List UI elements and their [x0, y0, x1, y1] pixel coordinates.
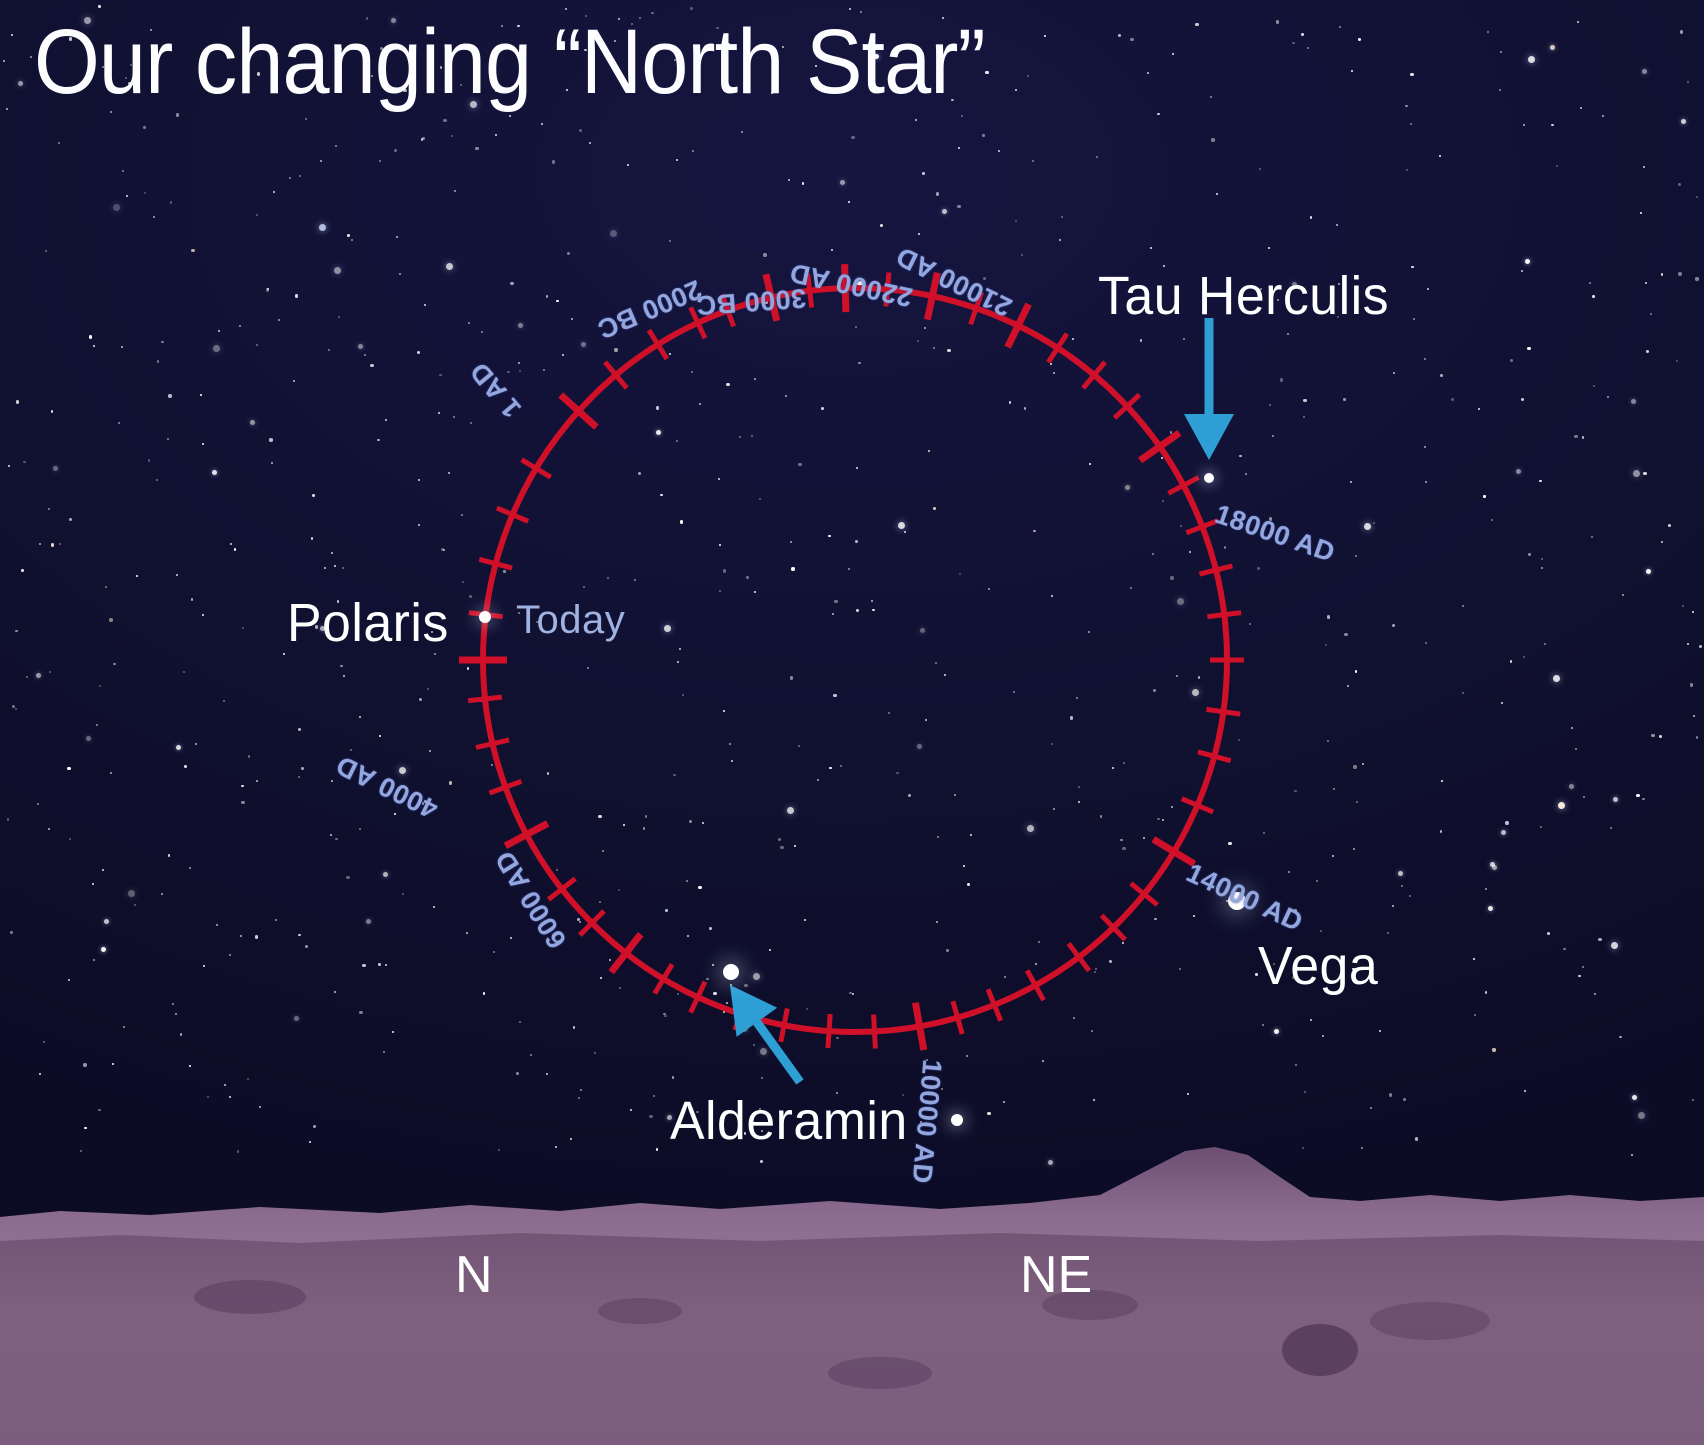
background-star — [331, 780, 333, 782]
era-tick-major — [845, 264, 846, 312]
background-star — [815, 65, 817, 67]
background-star — [1170, 576, 1173, 579]
background-star — [669, 353, 671, 355]
background-star — [656, 1148, 658, 1150]
background-star — [1352, 968, 1354, 970]
background-star — [667, 1115, 672, 1120]
background-star — [102, 869, 104, 871]
background-star — [562, 354, 564, 356]
era-tick-minor — [1027, 971, 1044, 1001]
background-star — [1143, 837, 1145, 839]
background-star — [573, 1026, 575, 1028]
background-star — [1490, 862, 1495, 867]
background-star — [852, 993, 854, 995]
background-star — [729, 743, 731, 745]
background-star — [1355, 670, 1357, 672]
background-star — [1303, 416, 1305, 418]
background-star — [99, 685, 101, 687]
background-star — [213, 345, 220, 352]
background-star — [89, 56, 92, 59]
background-star — [371, 75, 373, 77]
background-star — [578, 1097, 580, 1099]
background-star — [394, 813, 396, 815]
background-star — [744, 1013, 747, 1016]
background-star — [460, 84, 462, 86]
background-star — [118, 422, 120, 424]
background-star — [1273, 963, 1275, 965]
background-star — [1492, 865, 1497, 870]
background-star — [1154, 918, 1156, 920]
background-star — [936, 921, 938, 923]
background-star — [1153, 689, 1156, 692]
background-star — [1500, 51, 1502, 53]
background-star — [1393, 372, 1395, 374]
background-star — [1353, 765, 1356, 768]
era-tick-minor — [808, 274, 812, 308]
background-star — [1287, 333, 1289, 335]
background-star — [172, 1003, 174, 1005]
background-star — [1638, 1112, 1645, 1119]
background-star — [908, 794, 911, 797]
background-star — [1093, 1099, 1095, 1101]
background-star — [475, 147, 478, 150]
background-star — [1320, 930, 1322, 932]
background-star — [853, 78, 856, 81]
background-star — [937, 836, 939, 838]
era-4000-ad: 4000 AD — [331, 749, 443, 825]
background-star — [417, 351, 420, 354]
background-star — [607, 577, 609, 579]
background-star — [1631, 399, 1636, 404]
background-star — [699, 403, 701, 405]
background-star — [320, 160, 322, 162]
background-star — [579, 129, 582, 132]
background-star — [1516, 469, 1521, 474]
background-star — [1589, 282, 1591, 284]
background-star — [1355, 555, 1357, 557]
background-star — [424, 304, 426, 306]
background-star — [1061, 216, 1063, 218]
background-star — [15, 708, 17, 710]
background-star — [941, 1088, 943, 1090]
background-star — [1344, 633, 1347, 636]
background-star — [663, 1013, 665, 1015]
background-star — [123, 1026, 125, 1028]
background-star — [856, 609, 859, 612]
background-star — [259, 1106, 261, 1108]
background-star — [817, 779, 819, 781]
background-star — [726, 383, 729, 386]
background-star — [370, 364, 373, 367]
background-star — [1607, 396, 1609, 398]
background-star — [112, 1063, 114, 1065]
background-star — [614, 348, 617, 351]
background-star — [1643, 166, 1645, 168]
background-star — [1183, 338, 1185, 340]
background-star — [438, 412, 440, 414]
background-star — [183, 671, 185, 673]
background-star — [840, 180, 845, 185]
background-star — [926, 1059, 928, 1061]
background-star — [157, 360, 159, 362]
background-star — [848, 568, 850, 570]
background-star — [1292, 42, 1294, 44]
background-star — [1091, 1030, 1093, 1032]
background-star — [719, 544, 721, 546]
background-star — [692, 150, 694, 152]
background-star — [26, 676, 28, 678]
background-star — [402, 893, 404, 895]
background-star — [1524, 1090, 1526, 1092]
background-star — [691, 371, 693, 373]
background-star — [1073, 1017, 1075, 1019]
background-star — [645, 815, 647, 817]
background-star — [614, 40, 616, 42]
background-star — [320, 626, 325, 631]
background-star — [829, 767, 831, 769]
background-star — [674, 59, 676, 61]
background-star — [698, 886, 701, 889]
background-star — [1379, 1030, 1381, 1032]
background-star — [643, 827, 645, 829]
background-star — [798, 463, 801, 466]
background-star — [1327, 740, 1329, 742]
background-star — [134, 904, 136, 906]
background-star — [924, 327, 926, 329]
arrow-head — [1184, 414, 1234, 460]
background-star — [1123, 762, 1125, 764]
background-star — [128, 82, 131, 85]
background-star — [1294, 790, 1296, 792]
background-star — [902, 1094, 904, 1096]
background-star — [849, 992, 851, 994]
background-star — [335, 145, 337, 147]
background-star — [723, 710, 725, 712]
background-star — [84, 17, 91, 24]
background-star — [821, 407, 824, 410]
background-star — [556, 869, 558, 871]
background-star — [161, 893, 163, 895]
background-star — [771, 92, 773, 94]
era-21000-ad: 21000 AD — [891, 240, 1017, 322]
background-star — [840, 765, 842, 767]
background-star — [834, 600, 837, 603]
background-star — [1553, 675, 1560, 682]
label-alderamin: Alderamin — [670, 1090, 908, 1152]
background-star — [267, 288, 269, 290]
background-star — [961, 115, 963, 117]
background-star — [53, 466, 58, 471]
era-tick-major — [915, 1003, 923, 1050]
background-star — [761, 1077, 763, 1079]
background-star — [726, 1002, 728, 1004]
background-star — [1462, 605, 1464, 607]
background-star — [1187, 1093, 1189, 1095]
background-star — [351, 239, 353, 241]
background-star — [831, 249, 833, 251]
background-star — [1193, 915, 1195, 917]
background-star — [857, 281, 864, 288]
background-star — [330, 834, 332, 836]
background-star — [1370, 1107, 1372, 1109]
background-star — [298, 728, 301, 731]
background-star — [1094, 971, 1096, 973]
background-star — [1358, 38, 1361, 41]
background-star — [922, 172, 925, 175]
background-star — [449, 781, 452, 784]
label-today: Today — [516, 598, 625, 643]
background-star — [334, 565, 336, 567]
background-star — [1003, 1101, 1005, 1103]
background-star — [1122, 942, 1124, 944]
era-tick-minor — [549, 879, 576, 900]
background-star — [1327, 615, 1330, 618]
background-star — [669, 240, 671, 242]
background-star — [702, 822, 704, 824]
era-tick-minor — [1186, 521, 1218, 533]
background-star — [623, 824, 625, 826]
precession-overlay — [0, 0, 1704, 1445]
background-star — [581, 342, 586, 347]
background-star — [170, 201, 172, 203]
background-star — [664, 1015, 666, 1017]
background-star — [1410, 123, 1412, 125]
background-star — [168, 394, 171, 397]
background-star — [237, 1150, 239, 1152]
background-star — [1009, 401, 1011, 403]
background-star — [1337, 316, 1339, 318]
background-star — [833, 694, 836, 697]
background-star — [571, 318, 573, 320]
background-star — [1547, 932, 1550, 935]
background-star — [176, 745, 181, 750]
background-star — [1292, 976, 1295, 979]
background-star — [753, 1044, 755, 1046]
background-star — [1699, 645, 1702, 648]
background-star — [189, 1065, 191, 1067]
background-star — [175, 1013, 177, 1015]
background-star — [1125, 485, 1130, 490]
background-star — [98, 5, 101, 8]
background-star — [391, 18, 396, 23]
background-star — [241, 785, 243, 787]
background-star — [1440, 374, 1443, 377]
background-star — [1088, 631, 1090, 633]
background-star — [1410, 73, 1413, 76]
background-star — [334, 991, 336, 993]
background-star — [935, 662, 937, 664]
background-star — [985, 71, 988, 74]
compass-n: N — [455, 1245, 493, 1305]
era-tick-minor — [522, 460, 551, 478]
background-star — [1474, 1014, 1476, 1016]
background-star — [951, 99, 953, 101]
named-star-dots — [479, 473, 1246, 1126]
background-star — [759, 498, 761, 500]
background-star — [1591, 536, 1593, 538]
star-tau-herculis — [1204, 473, 1214, 483]
background-star — [148, 459, 150, 461]
background-star — [1224, 546, 1226, 548]
background-star — [433, 906, 435, 908]
background-star — [1015, 89, 1017, 91]
background-star — [598, 815, 601, 818]
background-star — [1492, 1048, 1495, 1051]
background-star — [250, 420, 255, 425]
background-star — [753, 973, 760, 980]
background-star — [394, 149, 397, 152]
background-star — [1245, 473, 1247, 475]
background-star — [1100, 815, 1102, 817]
background-star — [944, 674, 946, 676]
background-star — [1333, 788, 1335, 790]
background-star — [942, 17, 944, 19]
background-star — [880, 224, 883, 227]
star-polaris — [479, 611, 491, 623]
era-10000-ad: 10000 AD — [906, 1058, 948, 1185]
background-star — [343, 675, 345, 677]
background-star — [84, 1127, 86, 1129]
background-star — [324, 567, 326, 569]
background-star — [1295, 1064, 1297, 1066]
background-star — [1044, 35, 1046, 37]
background-star — [400, 616, 402, 618]
background-star — [481, 331, 483, 333]
background-star — [493, 951, 495, 953]
background-star — [83, 1063, 86, 1066]
background-star — [23, 461, 25, 463]
background-star — [915, 119, 917, 121]
background-star — [466, 932, 468, 934]
background-star — [682, 694, 684, 696]
background-star — [1525, 259, 1530, 264]
background-star — [202, 443, 204, 445]
background-star — [638, 472, 641, 475]
background-star — [1195, 23, 1198, 26]
background-star — [1109, 960, 1112, 963]
background-star — [1130, 38, 1133, 41]
background-star — [1424, 446, 1426, 448]
era-tick-minor — [988, 989, 1001, 1021]
background-star — [782, 46, 784, 48]
background-star — [1259, 168, 1261, 170]
background-star — [16, 400, 19, 403]
background-star — [1210, 96, 1212, 98]
era-tick-minor — [1131, 883, 1157, 904]
background-star — [439, 374, 441, 376]
background-star — [836, 1092, 838, 1094]
background-star — [706, 978, 708, 980]
background-star — [1310, 1019, 1312, 1021]
background-star — [36, 673, 41, 678]
background-star — [761, 1130, 763, 1132]
star-vega — [1228, 892, 1246, 910]
background-star — [584, 49, 586, 51]
background-star — [1112, 767, 1114, 769]
background-star — [1301, 33, 1304, 36]
background-star — [759, 1108, 761, 1110]
background-star — [1260, 288, 1262, 290]
background-star — [276, 53, 278, 55]
background-star — [422, 137, 425, 140]
background-star — [754, 378, 756, 380]
background-star — [933, 507, 936, 510]
background-star — [713, 992, 716, 995]
background-star — [501, 25, 503, 27]
background-star — [690, 7, 693, 10]
background-star — [6, 108, 8, 110]
background-star — [1336, 224, 1338, 226]
background-star — [45, 250, 47, 252]
background-star — [966, 1055, 968, 1057]
background-star — [1550, 45, 1555, 50]
era-tick-minor — [649, 330, 667, 359]
background-star — [1078, 801, 1080, 803]
background-star — [8, 465, 10, 467]
background-star — [556, 300, 558, 302]
background-star — [589, 142, 591, 144]
background-star — [12, 705, 15, 708]
background-star — [480, 700, 482, 702]
background-star — [1316, 880, 1318, 882]
background-star — [546, 1073, 548, 1075]
background-star — [1035, 963, 1037, 965]
background-star — [256, 780, 258, 782]
background-star — [1147, 72, 1149, 74]
background-star — [315, 625, 318, 628]
background-star — [1180, 525, 1182, 527]
background-star — [1150, 247, 1152, 249]
era-tick-minor — [1198, 752, 1231, 761]
background-star — [1364, 523, 1371, 530]
background-star — [518, 612, 520, 614]
background-star — [1239, 455, 1241, 457]
background-star — [741, 131, 743, 133]
background-star — [200, 394, 202, 396]
era-2000-bc: 2000 BC — [593, 273, 706, 345]
background-star — [1338, 283, 1340, 285]
background-star — [1076, 697, 1078, 699]
background-star — [1636, 794, 1639, 797]
background-star — [180, 1033, 182, 1035]
background-star — [1033, 530, 1035, 532]
background-star — [1015, 220, 1017, 222]
background-star — [1659, 735, 1662, 738]
background-star — [618, 18, 620, 20]
background-star — [461, 514, 463, 516]
background-star — [1157, 113, 1159, 115]
background-star — [1488, 906, 1493, 911]
annotation-arrows — [730, 318, 1234, 1082]
background-star — [379, 160, 381, 162]
era-tick-minor — [1115, 395, 1140, 418]
background-star — [121, 346, 123, 348]
background-star — [806, 1008, 808, 1010]
background-star — [229, 954, 231, 956]
background-star — [350, 749, 352, 751]
background-star — [918, 233, 920, 235]
background-star — [1571, 727, 1573, 729]
background-star — [49, 671, 51, 673]
era-tick-minor — [1200, 566, 1233, 574]
background-star — [30, 56, 32, 58]
compass-ne: NE — [1020, 1245, 1092, 1305]
background-star — [536, 621, 538, 623]
background-star — [599, 901, 601, 903]
background-star — [764, 301, 767, 304]
background-star — [509, 115, 511, 117]
background-star — [189, 867, 191, 869]
